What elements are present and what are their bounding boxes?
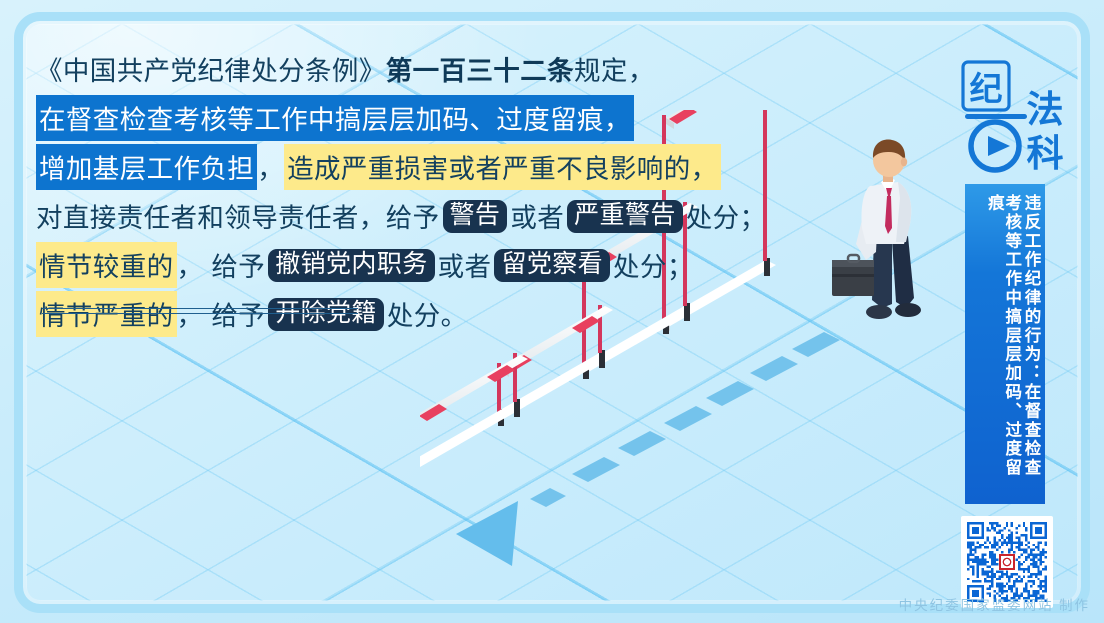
line3-comma: ， xyxy=(257,147,284,186)
line1-article-number: 第一百三十二条 xyxy=(386,49,574,88)
banner-column-left: 考核等工作中搞层层加码、过度留痕 xyxy=(986,194,1021,496)
logo-char-ke: 科 xyxy=(1027,133,1064,175)
line5-sanction-1: 撤销党内职务 xyxy=(268,249,434,283)
text-line-5: 情节较重的，给予撤销党内职务或者留党察看处分； xyxy=(36,240,716,289)
hurdle-1 xyxy=(420,353,528,475)
direction-arrow-icon xyxy=(456,501,518,566)
lane-dashes xyxy=(530,332,840,507)
businessman-svg xyxy=(826,132,946,332)
line5-give: 给予 xyxy=(211,245,265,284)
qr-center-logo xyxy=(999,554,1016,571)
brand-logo-svg: 纪 法 科 xyxy=(959,56,1063,176)
body-text-block: 《中国共产党纪律处分条例》第一百三十二条规定， 在督查检查考核等工作中搞层层加码… xyxy=(36,44,716,338)
line4-sanction-1: 警告 xyxy=(443,200,508,234)
logo-char-fa: 法 xyxy=(1027,89,1064,131)
vertical-banner: 违反工作纪律的行为：在督查检查 考核等工作中搞层层加码、过度留痕 xyxy=(965,184,1045,504)
line4-give: 给予 xyxy=(386,196,440,235)
credit-line: 中央纪委国家监委网站 制作 xyxy=(0,594,1090,614)
businessman-figure xyxy=(826,132,946,332)
line5-sanction-2: 留党察看 xyxy=(494,249,610,283)
line4-double-underline xyxy=(42,308,358,314)
qr-code-svg[interactable] xyxy=(967,522,1047,602)
line1-post: 规定， xyxy=(574,49,655,88)
line5-tail: 处分； xyxy=(613,245,694,284)
line5-or: 或者 xyxy=(438,245,492,284)
line3-highlight-yellow: 造成严重损害或者严重不良影响的， xyxy=(284,144,720,190)
briefcase-icon xyxy=(832,255,874,296)
right-rail: 纪 法 科 违反工作纪律的行为：在督查检查 考核等工作中搞层层加码、过度留痕 xyxy=(955,48,1065,588)
logo-char-ji: 纪 xyxy=(970,71,1003,108)
line4-tail: 处分； xyxy=(686,196,767,235)
line5-comma: ， xyxy=(177,245,204,284)
banner-column-right: 违反工作纪律的行为：在督查检查 xyxy=(1023,194,1040,496)
text-line-4: 对直接责任者和领导责任者，给予警告或者严重警告处分； xyxy=(36,191,716,240)
brand-logo: 纪 法 科 xyxy=(959,56,1063,176)
line6-tail: 处分。 xyxy=(387,294,468,333)
text-line-3: 增加基层工作负担，造成严重损害或者严重不良影响的， xyxy=(36,142,716,191)
line3-highlight-blue: 增加基层工作负担 xyxy=(36,144,257,190)
line5-highlight: 情节较重的 xyxy=(36,242,177,288)
line1-pre: 《中国共产党纪律处分条例》 xyxy=(36,49,386,88)
text-line-1: 《中国共产党纪律处分条例》第一百三十二条规定， xyxy=(36,44,716,93)
line6-sanction-1: 开除党籍 xyxy=(268,298,384,332)
line2-highlight: 在督查检查考核等工作中搞层层加码、过度留痕， xyxy=(36,95,634,141)
line4-underlined: 对直接责任者和领导责任者， xyxy=(36,196,386,235)
line4-or: 或者 xyxy=(510,196,564,235)
text-line-2: 在督查检查考核等工作中搞层层加码、过度留痕， xyxy=(36,93,716,142)
line4-sanction-2: 严重警告 xyxy=(567,200,683,234)
poster-canvas: 《中国共产党纪律处分条例》第一百三十二条规定， 在督查检查考核等工作中搞层层加码… xyxy=(0,0,1104,623)
play-triangle-icon xyxy=(988,136,1010,156)
